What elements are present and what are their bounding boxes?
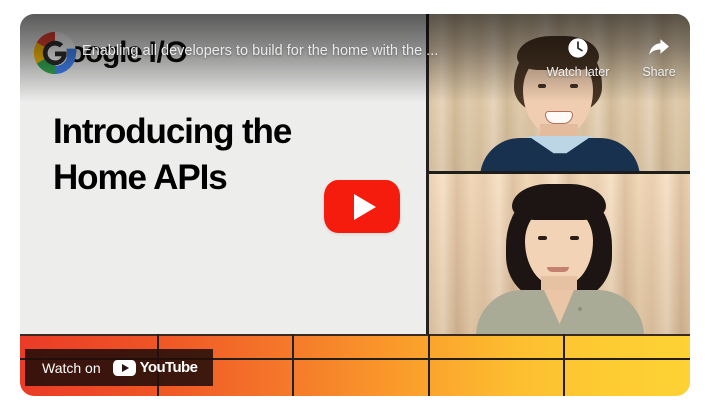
video-thumbnail[interactable]: Introducing the Home APIs [20, 14, 690, 334]
share-button[interactable]: Share [628, 36, 690, 79]
video-title[interactable]: Enabling all developers to build for the… [82, 42, 438, 60]
speaker-tile-bottom [428, 174, 690, 334]
clock-icon [532, 36, 624, 60]
share-label: Share [628, 65, 690, 79]
watch-later-button[interactable]: Watch later [532, 36, 624, 79]
speaker-bottom-eye-left [538, 236, 547, 240]
band-vertical-line [428, 334, 430, 396]
google-g-icon [33, 31, 77, 75]
watch-on-label: Watch on [42, 360, 101, 376]
speaker-bottom-mouth [547, 267, 569, 272]
band-vertical-line [292, 334, 294, 396]
slide-headline-line1: Introducing the [53, 109, 403, 155]
speaker-bottom-eye-right [570, 236, 579, 240]
play-triangle-icon [354, 194, 376, 220]
youtube-wordmark: YouTube [140, 359, 198, 376]
page-root: Introducing the Home APIs [0, 0, 705, 409]
speaker-bottom-button [578, 307, 582, 311]
youtube-logo: YouTube [113, 359, 198, 376]
speaker-bottom-fringe [512, 184, 606, 220]
speaker-top-mouth [545, 111, 573, 124]
band-top-line [20, 334, 690, 336]
youtube-video-embed[interactable]: Introducing the Home APIs [20, 14, 690, 396]
play-button[interactable] [324, 180, 400, 233]
share-arrow-icon [628, 36, 690, 60]
slide-panel-divider [426, 14, 429, 334]
camera-tile-divider [428, 171, 690, 174]
watch-later-label: Watch later [532, 65, 624, 79]
youtube-play-badge-icon [113, 360, 136, 376]
watch-on-youtube-button[interactable]: Watch on YouTube [25, 349, 213, 386]
speaker-top-eye-right [570, 84, 578, 88]
youtube-badge-triangle [122, 364, 129, 372]
band-vertical-line [563, 334, 565, 396]
speaker-top-eye-left [538, 84, 546, 88]
